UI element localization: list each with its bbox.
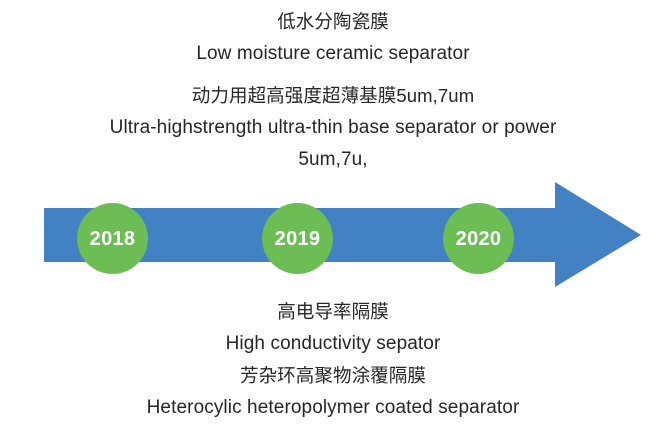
top-caption-line-2: Low moisture ceramic separator [0,38,666,70]
bottom-caption-line-2: High conductivity sepator [0,328,666,360]
top-caption-line-5: 5um,7u, [0,144,666,176]
bottom-caption-line-1: 高电导率隔膜 [0,296,666,328]
top-caption-line-1: 低水分陶瓷膜 [0,6,666,38]
caption-spacer [0,70,666,80]
year-marker-2018[interactable]: 2018 [77,203,148,274]
top-caption-line-3: 动力用超高强度超薄基膜5um,7um [0,80,666,112]
bottom-caption-block: 高电导率隔膜 High conductivity sepator 芳杂环高聚物涂… [0,296,666,424]
year-marker-2019[interactable]: 2019 [262,203,333,274]
year-marker-label: 2019 [275,229,321,249]
bottom-caption-line-3: 芳杂环高聚物涂覆隔膜 [0,360,666,392]
year-marker-2020[interactable]: 2020 [443,203,514,274]
year-marker-label: 2018 [90,229,136,249]
top-caption-block: 低水分陶瓷膜 Low moisture ceramic separator 动力… [0,6,666,176]
year-marker-label: 2020 [456,229,502,249]
timeline-diagram: 低水分陶瓷膜 Low moisture ceramic separator 动力… [0,0,666,439]
bottom-caption-line-4: Heterocylic heteropolymer coated separat… [0,392,666,424]
top-caption-line-4: Ultra-highstrength ultra-thin base separ… [0,112,666,144]
